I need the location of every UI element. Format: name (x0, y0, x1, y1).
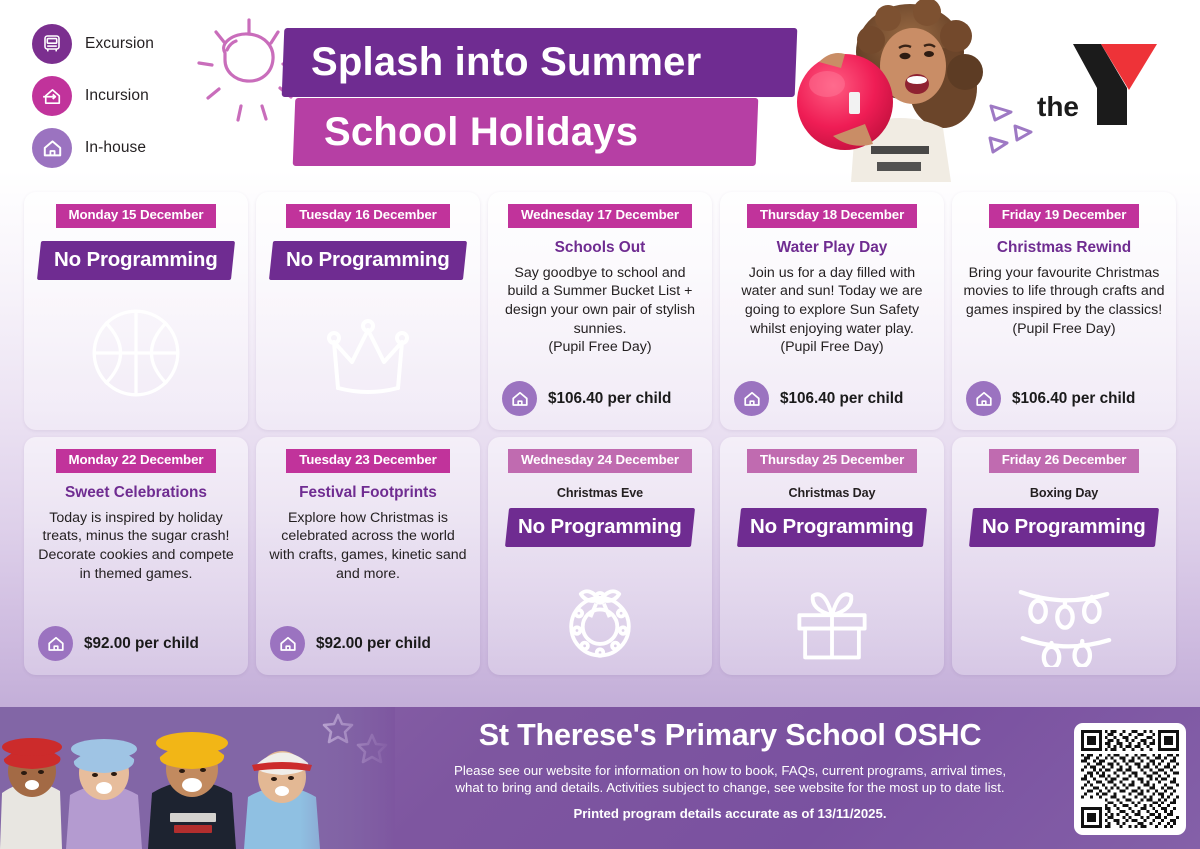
date-label: Friday 26 December (1002, 452, 1127, 467)
day-card[interactable]: Monday 22 December Sweet Celebrations To… (24, 437, 248, 675)
price-row: $106.40 per child (966, 381, 1135, 416)
price-row: $92.00 per child (270, 626, 431, 661)
day-card[interactable]: Monday 15 December No Programming (24, 192, 248, 430)
activity-description: Say goodbye to school and build a Summer… (497, 264, 703, 357)
activity-title: Christmas Rewind (997, 239, 1131, 257)
accurate-as-of-label: Printed program details accurate as of 1… (400, 806, 1060, 821)
day-card[interactable]: Tuesday 16 December No Programming (256, 192, 480, 430)
date-badge: Tuesday 16 December (286, 204, 450, 228)
date-badge: Thursday 25 December (747, 449, 917, 473)
activity-description: Explore how Christmas is celebrated acro… (265, 509, 471, 583)
no-programming-banner: No Programming (737, 508, 927, 547)
footer-note: Please see our website for information o… (400, 762, 1060, 797)
date-badge: Friday 26 December (989, 449, 1140, 473)
date-label: Thursday 25 December (760, 452, 904, 467)
title-band-secondary: School Holidays (293, 98, 759, 166)
holiday-subtitle: Christmas Day (789, 486, 876, 500)
activity-title: Sweet Celebrations (65, 484, 207, 502)
house-icon (32, 128, 72, 168)
house-icon (270, 626, 305, 661)
activity-title: Festival Footprints (299, 484, 437, 502)
date-label: Monday 15 December (69, 207, 204, 222)
date-label: Wednesday 17 December (521, 207, 679, 222)
title-band-primary: Splash into Summer (282, 28, 798, 97)
day-card[interactable]: Friday 26 December Boxing Day No Program… (952, 437, 1176, 675)
date-badge: Wednesday 17 December (508, 204, 692, 228)
girl-holding-ball-photo (793, 0, 1008, 182)
the-y-logo: the (1035, 28, 1170, 138)
holiday-subtitle: Boxing Day (1030, 486, 1098, 500)
footer-note-line-2: what to bring and details. Activities su… (455, 780, 1004, 795)
house-icon (966, 381, 1001, 416)
legend: Excursion Incursion (32, 24, 154, 168)
logo-text-the: the (1037, 91, 1079, 122)
date-label: Tuesday 23 December (299, 452, 437, 467)
legend-label-in-house: In-house (85, 139, 146, 157)
string-lights-icon (1010, 571, 1118, 667)
date-label: Friday 19 December (1002, 207, 1127, 222)
day-card[interactable]: Thursday 25 December Christmas Day No Pr… (720, 437, 944, 675)
title-block: Splash into Summer School Holidays (283, 28, 813, 168)
day-card[interactable]: Wednesday 24 December Christmas Eve No P… (488, 437, 712, 675)
basketball-icon (81, 298, 191, 408)
price-label: $92.00 per child (84, 635, 199, 653)
price-label: $106.40 per child (780, 390, 903, 408)
footer-note-line-1: Please see our website for information o… (454, 763, 1006, 778)
legend-item-excursion: Excursion (32, 24, 154, 64)
title-line-1: Splash into Summer (311, 40, 701, 85)
date-label: Wednesday 24 December (521, 452, 679, 467)
legend-item-incursion: Incursion (32, 76, 154, 116)
four-children-photo (0, 707, 395, 849)
poster-root: Excursion Incursion (0, 0, 1200, 849)
day-card[interactable]: Friday 19 December Christmas Rewind Brin… (952, 192, 1176, 430)
no-programming-label: No Programming (54, 248, 218, 272)
holiday-subtitle: Christmas Eve (557, 486, 643, 500)
date-label: Tuesday 16 December (299, 207, 437, 222)
no-programming-banner: No Programming (269, 241, 467, 280)
activity-description: Today is inspired by holiday treats, min… (33, 509, 239, 583)
legend-label-incursion: Incursion (85, 87, 149, 105)
no-programming-banner: No Programming (969, 508, 1159, 547)
price-row: $92.00 per child (38, 626, 199, 661)
date-badge: Thursday 18 December (747, 204, 917, 228)
date-badge: Friday 19 December (989, 204, 1140, 228)
gift-icon (784, 571, 880, 667)
crown-icon (318, 308, 418, 408)
day-card[interactable]: Tuesday 23 December Festival Footprints … (256, 437, 480, 675)
qr-code[interactable] (1074, 723, 1186, 835)
no-programming-label: No Programming (982, 515, 1145, 539)
date-label: Monday 22 December (69, 452, 204, 467)
house-arrow-icon (32, 76, 72, 116)
activity-title: Water Play Day (777, 239, 888, 257)
wreath-icon (552, 571, 648, 667)
price-label: $106.40 per child (1012, 390, 1135, 408)
no-programming-label: No Programming (518, 515, 682, 539)
date-badge: Wednesday 24 December (508, 449, 692, 473)
activity-title: Schools Out (555, 239, 646, 257)
activity-description: Bring your favourite Christmas movies to… (961, 264, 1167, 338)
program-grid: Monday 15 December No Programming Tuesda… (24, 192, 1176, 675)
qr-code-image (1081, 730, 1179, 828)
no-programming-banner: No Programming (37, 241, 235, 280)
title-line-2: School Holidays (324, 110, 638, 155)
price-row: $106.40 per child (734, 381, 903, 416)
price-label: $106.40 per child (548, 390, 671, 408)
day-card[interactable]: Wednesday 17 December Schools Out Say go… (488, 192, 712, 430)
footer-text-block: St Therese's Primary School OSHC Please … (400, 707, 1060, 849)
price-row: $106.40 per child (502, 381, 671, 416)
no-programming-label: No Programming (286, 248, 450, 272)
date-label: Thursday 18 December (760, 207, 904, 222)
activity-description: Join us for a day filled with water and … (729, 264, 935, 357)
no-programming-label: No Programming (750, 515, 914, 539)
day-card[interactable]: Thursday 18 December Water Play Day Join… (720, 192, 944, 430)
poster-footer: St Therese's Primary School OSHC Please … (0, 707, 1200, 849)
bus-icon (32, 24, 72, 64)
date-badge: Tuesday 23 December (286, 449, 450, 473)
price-label: $92.00 per child (316, 635, 431, 653)
date-badge: Monday 15 December (56, 204, 217, 228)
no-programming-banner: No Programming (505, 508, 695, 547)
house-icon (502, 381, 537, 416)
poster-header: Excursion Incursion (0, 0, 1200, 188)
date-badge: Monday 22 December (56, 449, 217, 473)
legend-label-excursion: Excursion (85, 35, 154, 53)
house-icon (38, 626, 73, 661)
legend-item-in-house: In-house (32, 128, 154, 168)
triangle-doodles (985, 100, 1035, 160)
school-name: St Therese's Primary School OSHC (400, 719, 1060, 753)
house-icon (734, 381, 769, 416)
